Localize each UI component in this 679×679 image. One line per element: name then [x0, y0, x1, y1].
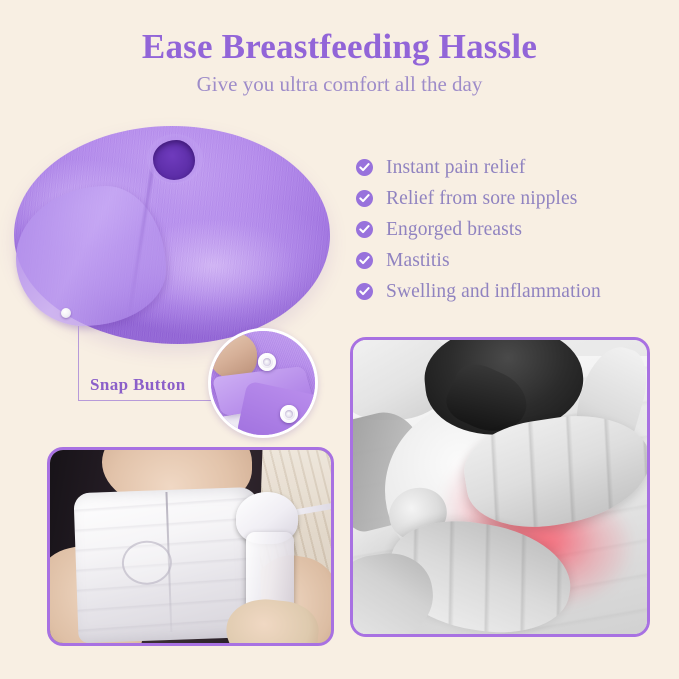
benefit-label: Instant pain relief [386, 157, 525, 179]
benefit-label: Swelling and inflammation [386, 281, 601, 303]
benefit-label: Mastitis [386, 250, 450, 272]
list-item: Mastitis [356, 245, 666, 276]
list-item: Relief from sore nipples [356, 183, 666, 214]
callout-line-horizontal [78, 400, 217, 401]
snap-button-label: Snap Button [90, 375, 186, 395]
page-title: Ease Breastfeeding Hassle [0, 26, 679, 68]
snap-button-closeup-inset [208, 328, 318, 438]
check-circle-icon [356, 252, 373, 269]
pad-snap-button [61, 308, 71, 318]
list-item: Instant pain relief [356, 152, 666, 183]
product-image-heating-pad [14, 126, 330, 344]
photo-content [50, 450, 331, 643]
check-circle-icon [356, 221, 373, 238]
check-circle-icon [356, 159, 373, 176]
benefits-list: Instant pain relief Relief from sore nip… [356, 152, 666, 307]
photo-content [353, 340, 647, 634]
callout-line-vertical [78, 326, 79, 401]
inset-snap-button-top [258, 353, 276, 371]
product-infographic: Ease Breastfeeding Hassle Give you ultra… [0, 0, 679, 679]
pad-center-opening [153, 140, 195, 180]
breast-pain-relief-photo [350, 337, 650, 637]
benefit-label: Engorged breasts [386, 219, 522, 241]
header: Ease Breastfeeding Hassle Give you ultra… [0, 26, 679, 97]
inset-snap-button-bottom [280, 405, 298, 423]
check-circle-icon [356, 190, 373, 207]
check-circle-icon [356, 283, 373, 300]
list-item: Engorged breasts [356, 214, 666, 245]
breast-pump-in-use-photo [47, 447, 334, 646]
page-subtitle: Give you ultra comfort all the day [0, 71, 679, 97]
list-item: Swelling and inflammation [356, 276, 666, 307]
benefit-label: Relief from sore nipples [386, 188, 577, 210]
